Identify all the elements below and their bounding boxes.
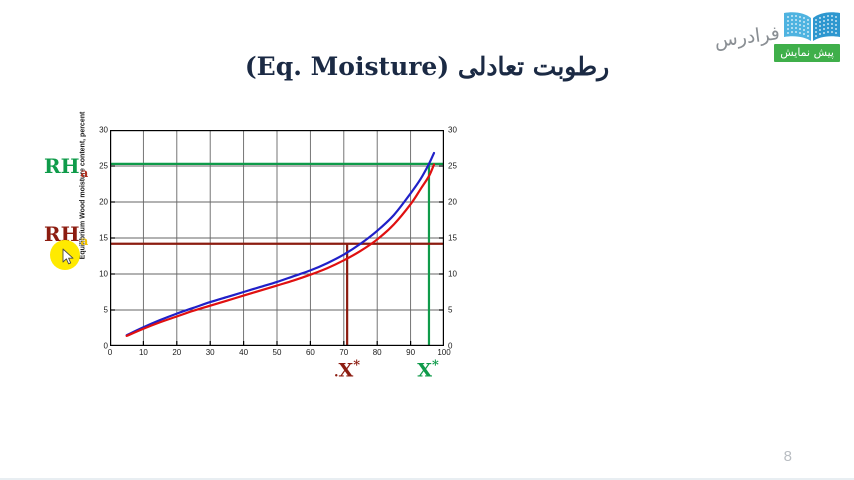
x-tick-30: 30 bbox=[206, 348, 215, 357]
x-tick-20: 20 bbox=[172, 348, 181, 357]
y-axis-left-ticks: 0 5 10 15 20 25 30 bbox=[84, 130, 108, 346]
xstar-green-text: X bbox=[417, 359, 432, 381]
y-tick-left-25: 25 bbox=[99, 162, 108, 171]
grid-lines bbox=[110, 130, 444, 346]
y-tick-left-30: 30 bbox=[99, 126, 108, 135]
xstar-red-text: X bbox=[338, 359, 353, 381]
x-tick-0: 0 bbox=[108, 348, 112, 357]
xstar-red-annotation: .X* bbox=[334, 358, 360, 381]
x-tick-50: 50 bbox=[273, 348, 282, 357]
y-tick-left-20: 20 bbox=[99, 197, 108, 206]
rh-upper-annotation: RHa bbox=[44, 154, 87, 178]
y-tick-right-15: 15 bbox=[448, 234, 457, 243]
chart-figure: Equilibrium Wood moisture content, perce… bbox=[36, 126, 466, 386]
y-tick-right-10: 10 bbox=[448, 270, 457, 279]
y-axis-right-ticks: 0 5 10 15 20 25 30 bbox=[448, 130, 472, 346]
y-tick-right-5: 5 bbox=[448, 305, 452, 314]
slide-canvas: فرادرس bbox=[0, 0, 854, 480]
y-tick-right-25: 25 bbox=[448, 162, 457, 171]
y-tick-left-15: 15 bbox=[99, 234, 108, 243]
xstar-green-star: * bbox=[432, 358, 439, 373]
y-tick-left-5: 5 bbox=[104, 305, 108, 314]
y-tick-right-20: 20 bbox=[448, 197, 457, 206]
y-tick-left-10: 10 bbox=[99, 270, 108, 279]
x-tick-10: 10 bbox=[139, 348, 148, 357]
x-tick-70: 70 bbox=[339, 348, 348, 357]
x-tick-40: 40 bbox=[239, 348, 248, 357]
x-tick-80: 80 bbox=[373, 348, 382, 357]
plot-area bbox=[110, 130, 444, 346]
y-tick-right-30: 30 bbox=[448, 126, 457, 135]
x-tick-90: 90 bbox=[406, 348, 415, 357]
x-axis-ticks: 0 10 20 30 40 50 60 70 80 90 100 bbox=[110, 348, 444, 362]
x-tick-100: 100 bbox=[437, 348, 450, 357]
x-tick-60: 60 bbox=[306, 348, 315, 357]
open-book-icon bbox=[781, 10, 843, 44]
page-number: 8 bbox=[784, 448, 792, 465]
xstar-green-annotation: X* bbox=[417, 358, 439, 381]
xstar-red-star: * bbox=[353, 358, 360, 373]
chart-svg bbox=[110, 130, 444, 346]
rh-upper-text: RH bbox=[44, 154, 80, 178]
arrow-cursor-icon bbox=[62, 248, 74, 266]
logo-wordmark: فرادرس bbox=[713, 22, 781, 52]
page-title: رطوبت تعادلی (Eq. Moisture) bbox=[0, 52, 854, 81]
